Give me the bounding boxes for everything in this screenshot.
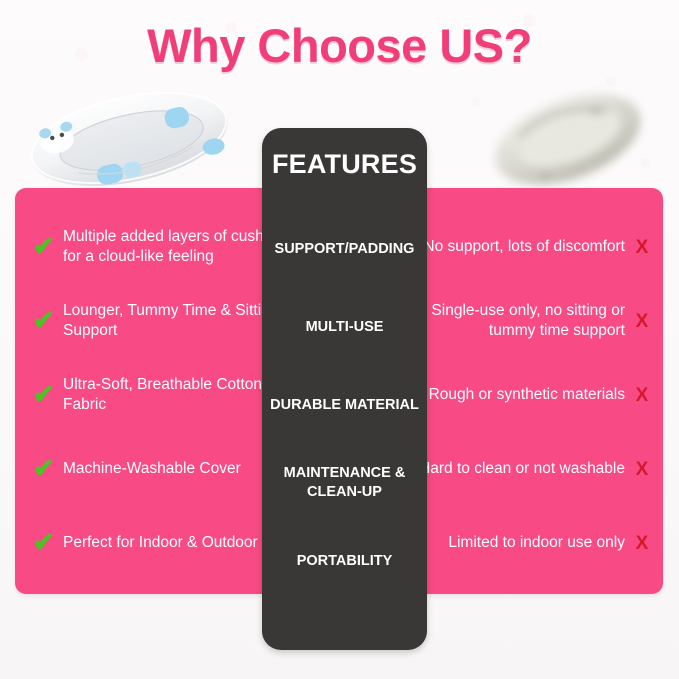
competitor-product-image: [478, 84, 658, 194]
x-icon: X: [633, 312, 651, 331]
x-icon: X: [633, 238, 651, 257]
con-text: Rough or synthetic materials: [429, 385, 625, 406]
features-heading: FEATURES: [262, 149, 427, 180]
pro-text: Perfect for Indoor & Outdoor Use: [63, 533, 290, 554]
feature-label: MAINTENANCE & CLEAN-UP: [270, 464, 419, 502]
con-text: No support, lots of discomfort: [423, 237, 625, 258]
pro-text: Lounger, Tummy Time & Sitting Support: [63, 301, 291, 342]
x-icon: X: [633, 534, 651, 553]
features-rows: SUPPORT/PADDING MULTI-USE DURABLE MATERI…: [262, 188, 427, 614]
feature-label: DURABLE MATERIAL: [270, 396, 419, 415]
page-title: Why Choose US?: [0, 17, 679, 75]
feature-row: SUPPORT/PADDING: [262, 210, 427, 288]
feature-label: SUPPORT/PADDING: [275, 240, 415, 259]
feature-row: MULTI-USE: [262, 288, 427, 366]
comparison-infographic: Why Choose US?: [0, 0, 679, 679]
check-icon: ✔: [33, 307, 57, 333]
x-icon: X: [633, 460, 651, 479]
feature-label: MULTI-USE: [306, 318, 384, 337]
check-icon: ✔: [33, 455, 57, 481]
con-text: Single-use only, no sitting or tummy tim…: [401, 301, 625, 342]
con-text: Limited to indoor use only: [448, 533, 625, 554]
check-icon: ✔: [33, 233, 57, 259]
pro-text: Ultra-Soft, Breathable Cotton Fabric: [63, 375, 291, 416]
features-column: FEATURES SUPPORT/PADDING MULTI-USE DURAB…: [262, 128, 427, 650]
x-icon: X: [633, 386, 651, 405]
feature-row: PORTABILITY: [262, 522, 427, 600]
our-product-image: [18, 82, 240, 194]
check-icon: ✔: [33, 381, 57, 407]
pro-text: Machine-Washable Cover: [63, 459, 241, 480]
pro-text: Multiple added layers of cushion for a c…: [63, 227, 291, 268]
con-text: Hard to clean or not washable: [419, 459, 625, 480]
feature-row: MAINTENANCE & CLEAN-UP: [262, 444, 427, 522]
check-icon: ✔: [33, 529, 57, 555]
feature-row: DURABLE MATERIAL: [262, 366, 427, 444]
feature-label: PORTABILITY: [297, 552, 393, 571]
